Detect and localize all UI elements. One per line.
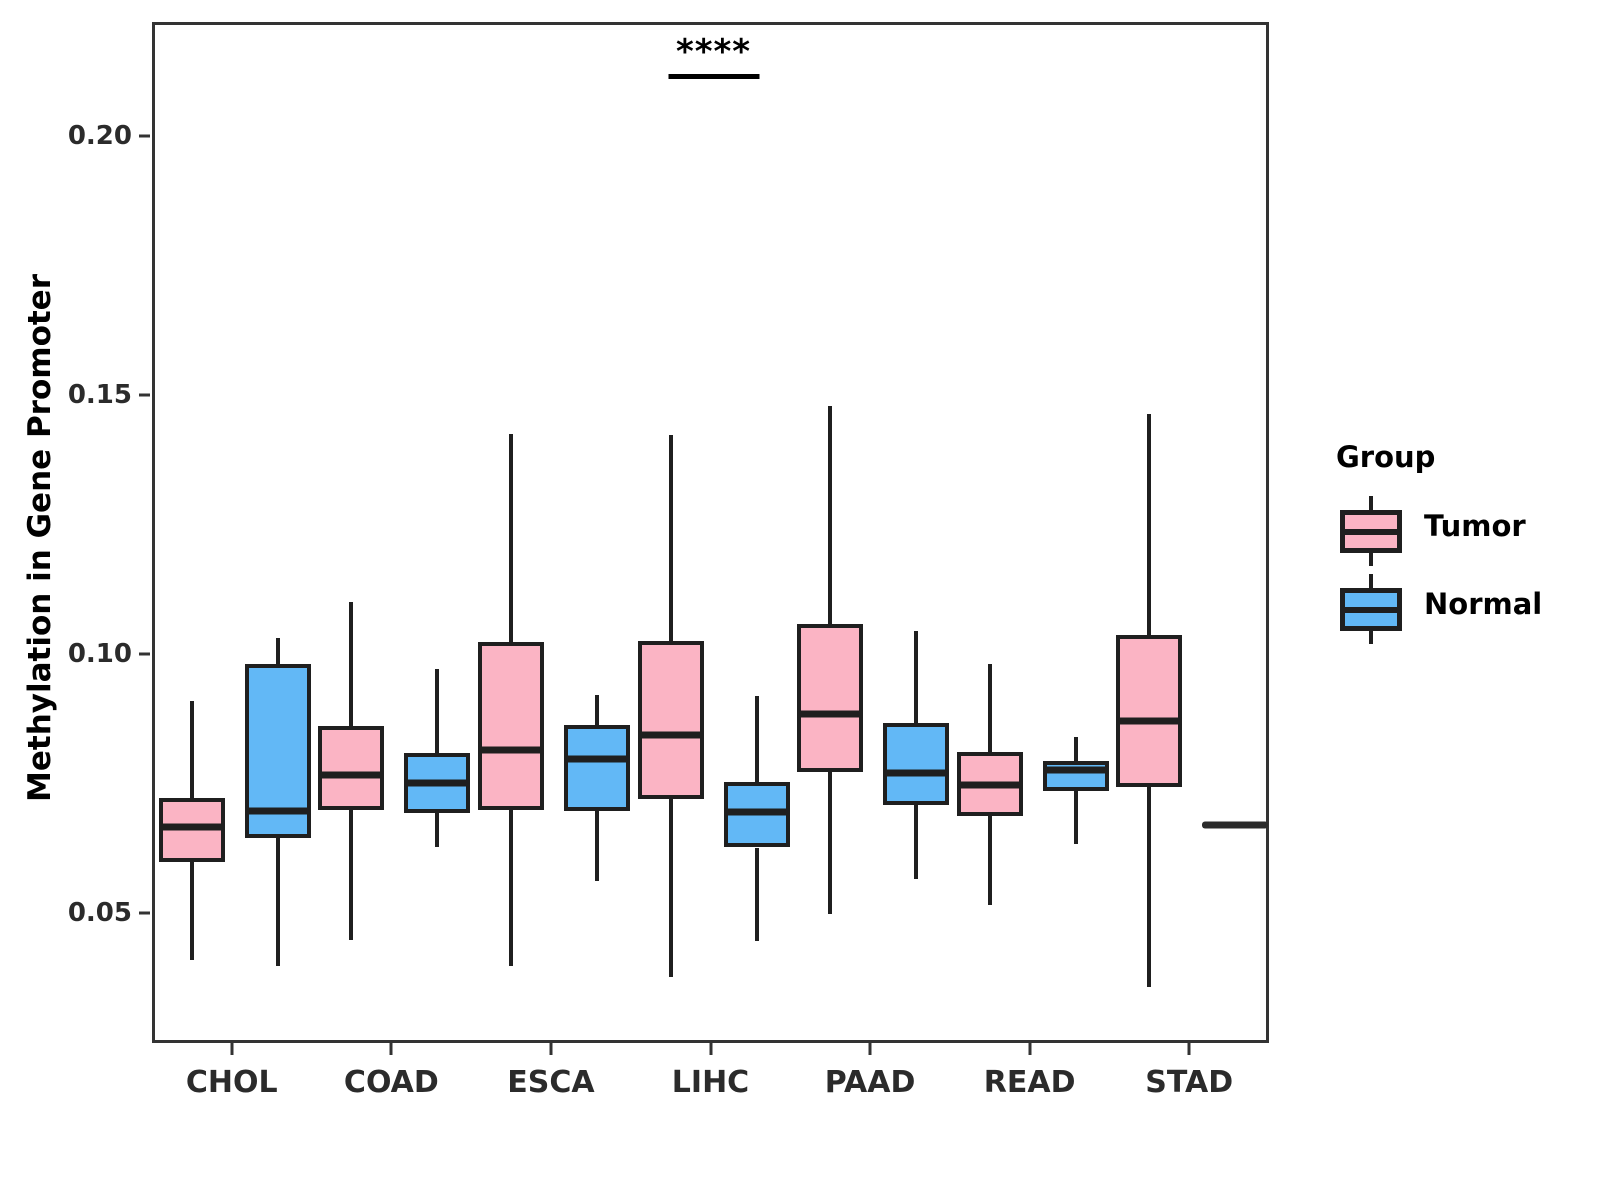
x-tick-label-lihc: LIHC bbox=[672, 1065, 749, 1100]
y-tick-mark bbox=[139, 912, 150, 915]
x-tick-mark bbox=[390, 1043, 393, 1055]
x-tick-mark bbox=[869, 1043, 872, 1055]
y-tick-mark bbox=[139, 653, 150, 656]
x-tick-label-paad: PAAD bbox=[825, 1065, 916, 1100]
x-tick-label-read: READ bbox=[984, 1065, 1076, 1100]
legend-entry-tumor[interactable]: Tumor bbox=[1334, 496, 1584, 566]
x-tick-mark bbox=[709, 1043, 712, 1055]
legend-label: Tumor bbox=[1424, 509, 1526, 543]
y-tick-mark bbox=[139, 135, 150, 138]
legend-median-line bbox=[1340, 607, 1402, 613]
x-tick-label-chol: CHOL bbox=[186, 1065, 278, 1100]
boxplot-figure: Methylation in Gene Promoter 0.050.100.1… bbox=[0, 0, 1600, 1200]
legend-median-line bbox=[1340, 529, 1402, 535]
x-tick-mark bbox=[1028, 1043, 1031, 1055]
legend: Group TumorNormal bbox=[1334, 440, 1584, 652]
x-tick-label-esca: ESCA bbox=[507, 1065, 594, 1100]
legend-key-swatch bbox=[1340, 574, 1402, 644]
x-tick-label-coad: COAD bbox=[344, 1065, 439, 1100]
x-tick-mark bbox=[230, 1043, 233, 1055]
legend-title: Group bbox=[1336, 440, 1584, 474]
legend-label: Normal bbox=[1424, 587, 1542, 621]
legend-entries: TumorNormal bbox=[1334, 496, 1584, 644]
legend-entry-normal[interactable]: Normal bbox=[1334, 574, 1584, 644]
x-tick-label-stad: STAD bbox=[1145, 1065, 1233, 1100]
x-tick-mark bbox=[1188, 1043, 1191, 1055]
y-tick-mark bbox=[139, 394, 150, 397]
x-tick-mark bbox=[549, 1043, 552, 1055]
legend-key-swatch bbox=[1340, 496, 1402, 566]
